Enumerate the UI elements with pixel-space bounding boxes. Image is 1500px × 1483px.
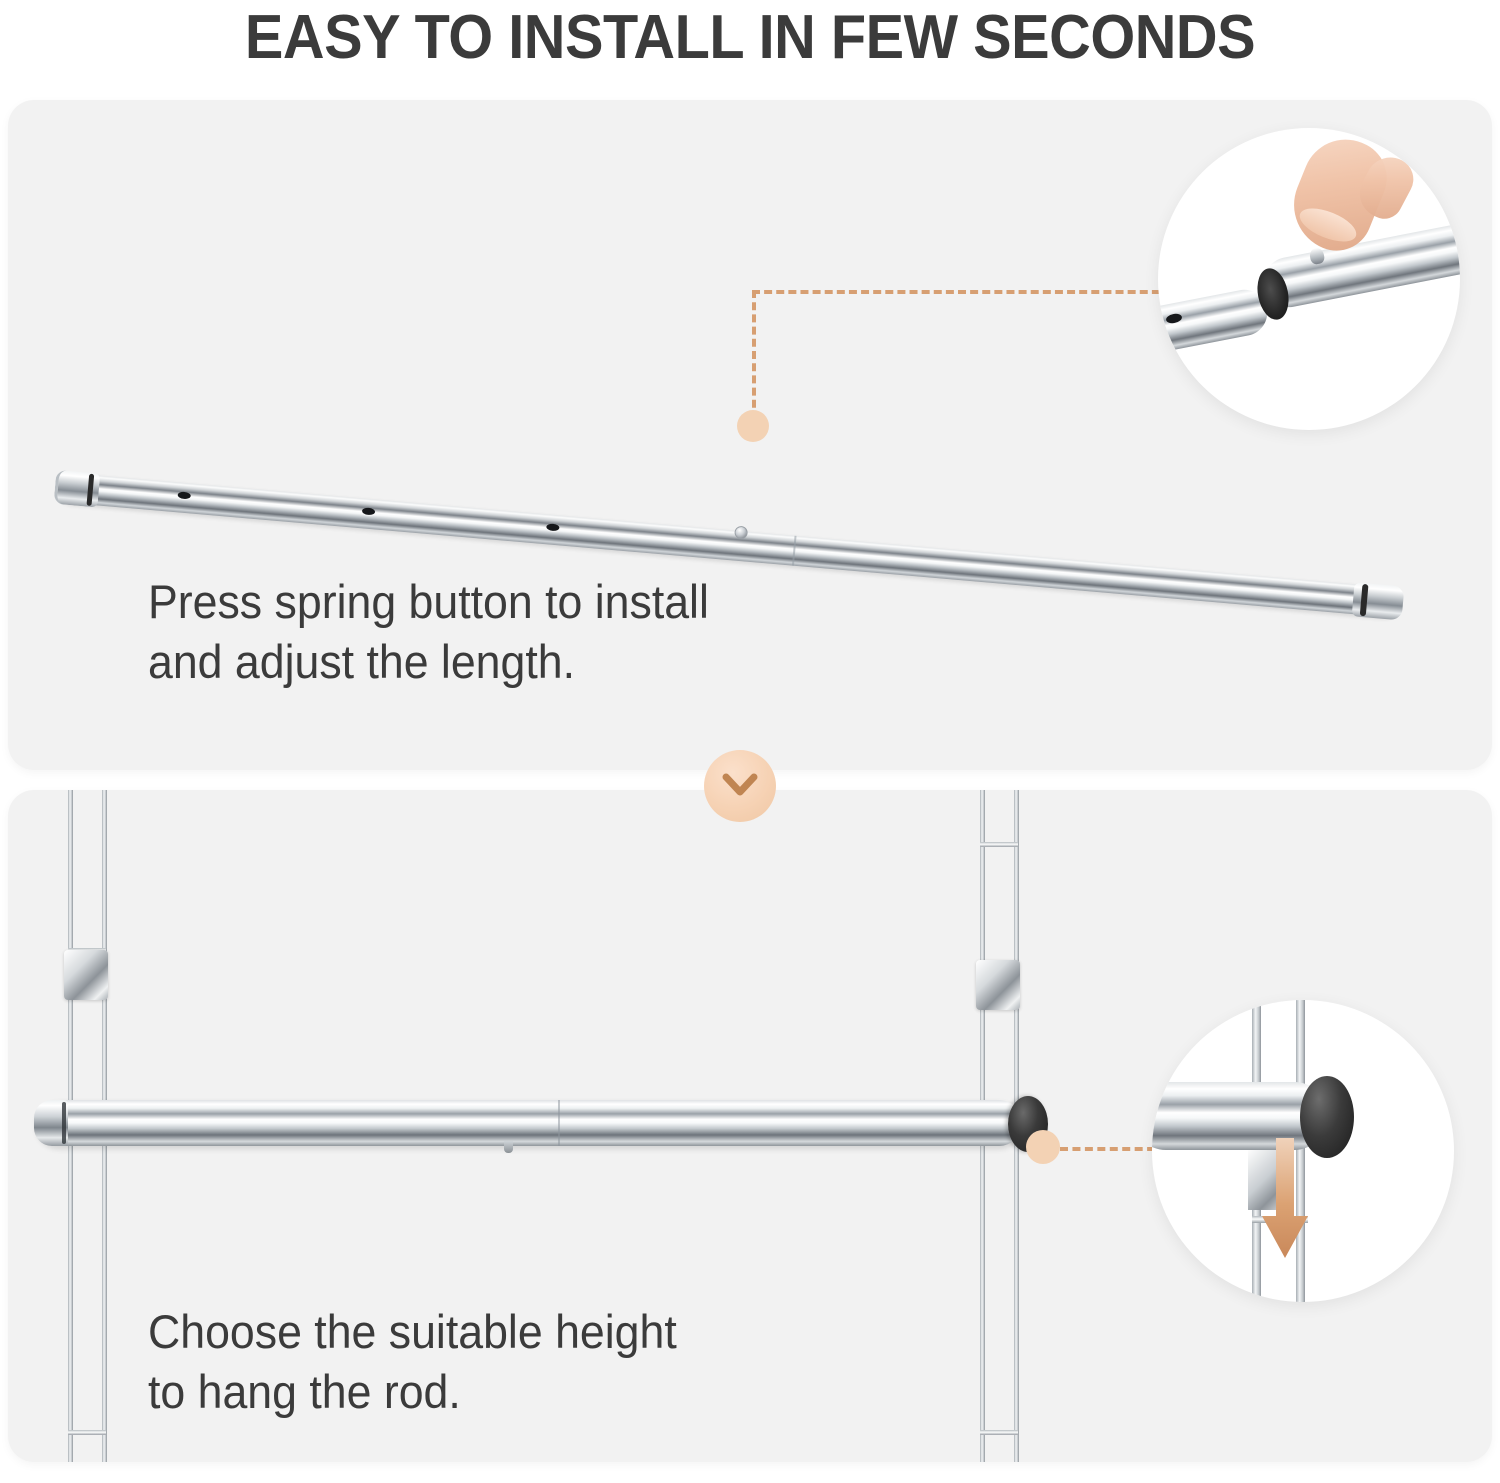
- step-1-callout-dot: [737, 410, 769, 442]
- step-2-product-rod: [36, 1100, 1022, 1146]
- rod-body: [36, 1100, 1022, 1146]
- rod-left-cap-icon: [54, 470, 101, 508]
- rod-left-cap-icon: [34, 1100, 68, 1146]
- step-2-detail-inset: [1152, 1000, 1454, 1302]
- wire-rung: [980, 842, 1018, 847]
- rack-clip-right: [976, 960, 1020, 1010]
- step-2-caption: Choose the suitable height to hang the r…: [148, 1302, 677, 1422]
- rod-telescoping-seam: [558, 1100, 560, 1146]
- step-1-callout-line-horizontal: [752, 290, 1172, 294]
- down-arrow-icon: [1260, 1138, 1310, 1264]
- wire-rung: [980, 1430, 1018, 1435]
- step-1-callout-line-vertical: [752, 290, 756, 420]
- chevron-down-badge[interactable]: [704, 750, 776, 822]
- wire-rung: [68, 1430, 106, 1435]
- spring-button-icon: [504, 1141, 513, 1153]
- step-1-detail-inset: [1158, 128, 1460, 430]
- rod-right-cap-icon: [1352, 582, 1405, 620]
- chevron-down-icon: [722, 772, 758, 800]
- step-1-caption: Press spring button to install and adjus…: [148, 572, 709, 692]
- step-2-callout-dot: [1026, 1130, 1060, 1164]
- infographic-root: EASY TO INSTALL IN FEW SECONDS: [0, 0, 1500, 1483]
- page-title: EASY TO INSTALL IN FEW SECONDS: [53, 2, 1448, 74]
- rack-clip-left: [64, 950, 108, 1000]
